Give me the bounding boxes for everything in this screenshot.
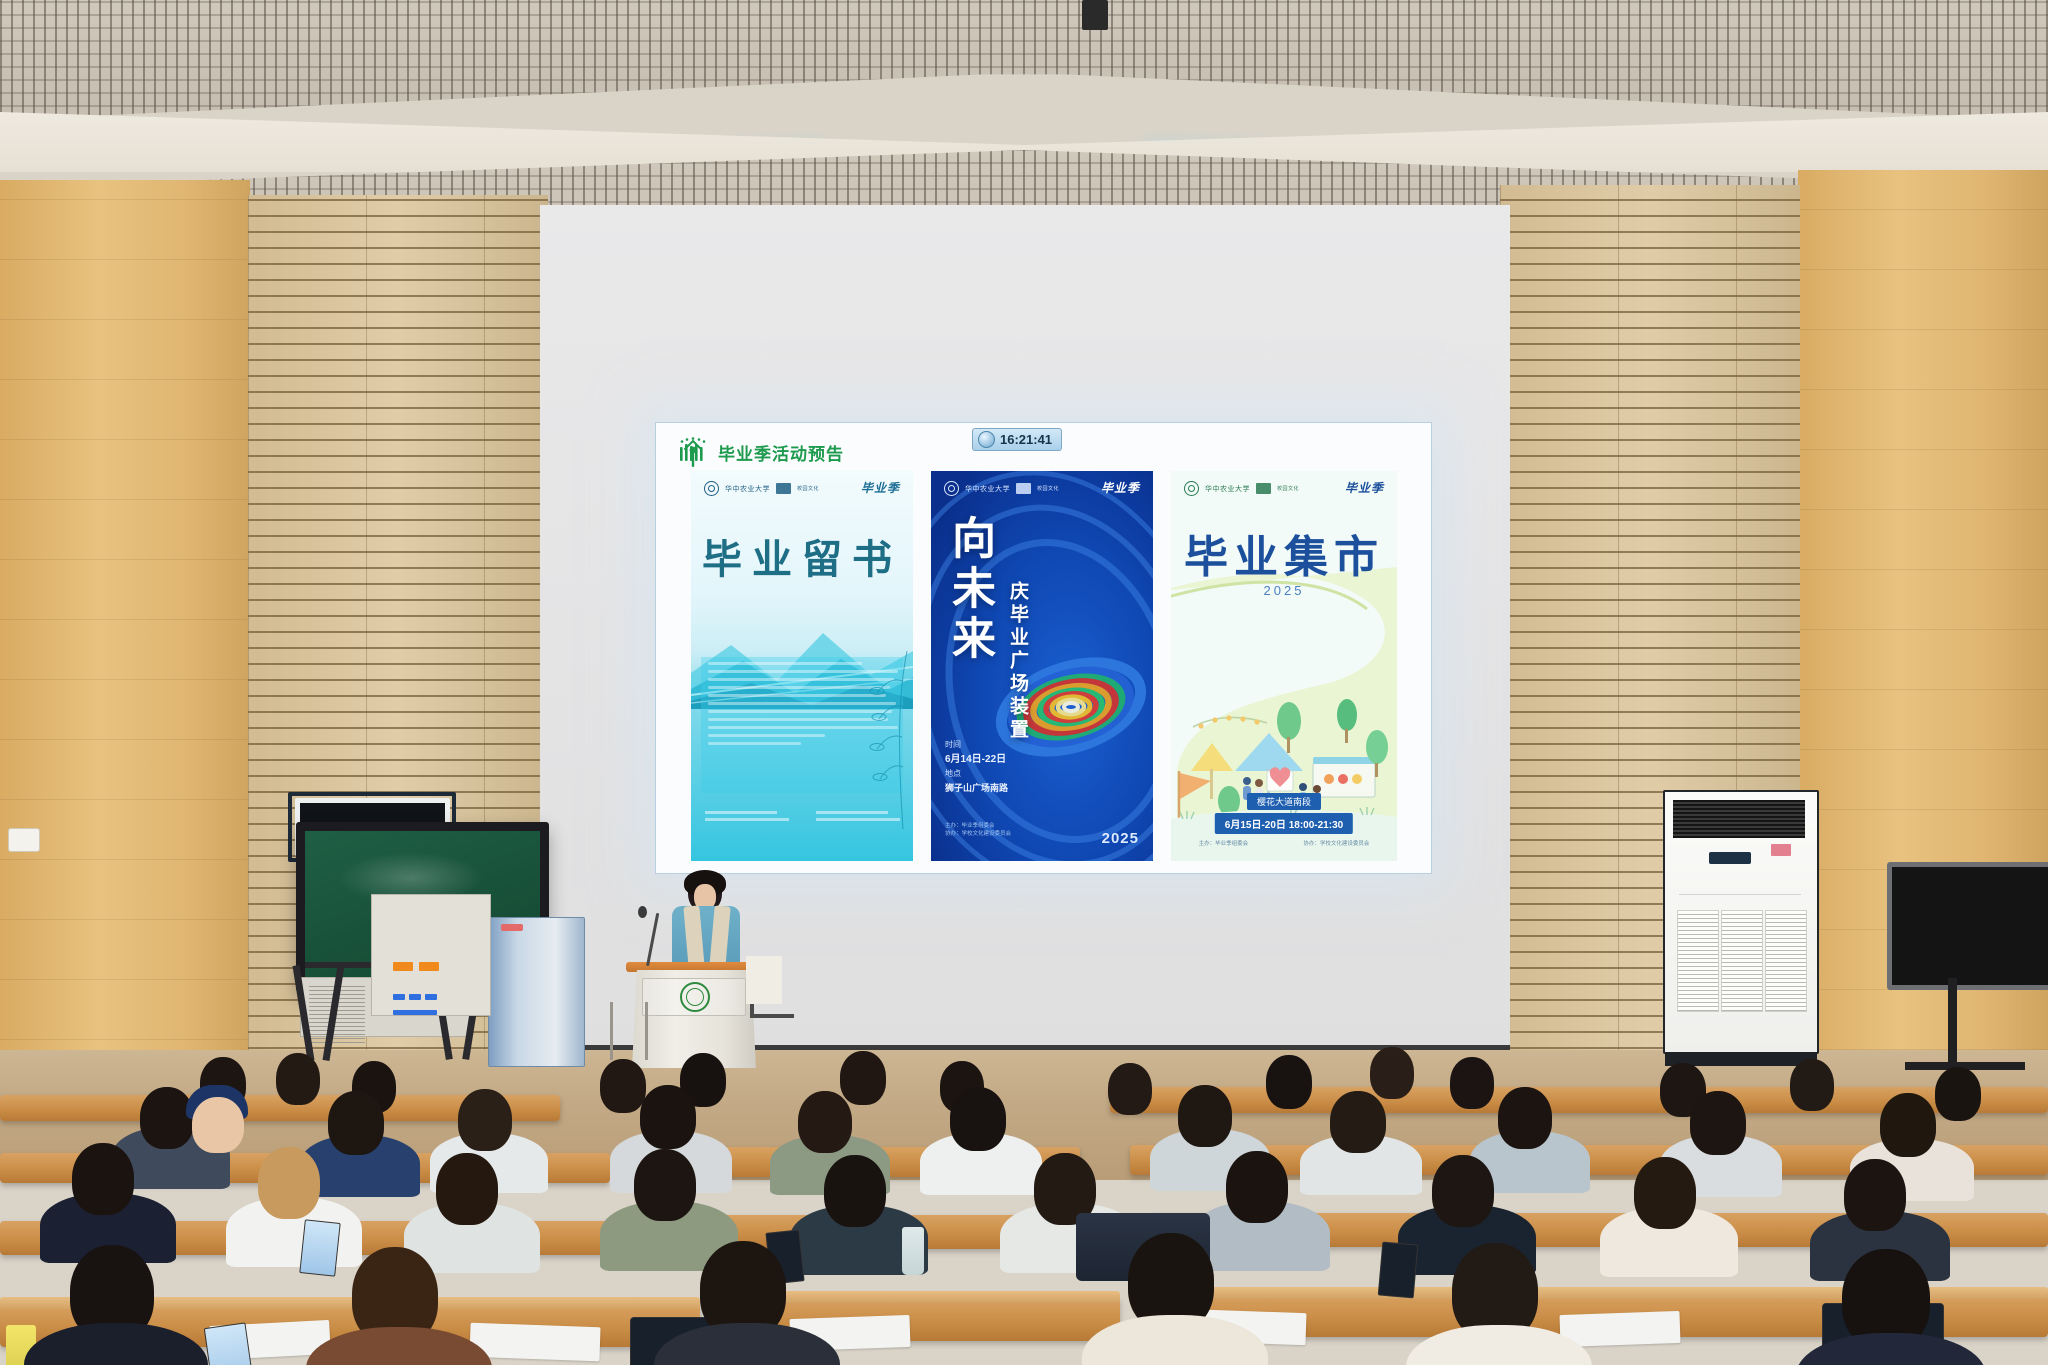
rack-led-blue-3: [425, 994, 437, 1000]
audience-head: [1450, 1057, 1494, 1109]
rack-led-orange-2: [419, 962, 439, 971]
poster-gallery: 华中农业大学 校园文化 毕业季 毕业留书: [691, 471, 1397, 861]
poster2-title: 向未来: [945, 515, 991, 665]
rack-led-orange-1: [393, 962, 413, 971]
poster-graduation-book[interactable]: 华中农业大学 校园文化 毕业季 毕业留书: [691, 471, 913, 861]
audience-head: [824, 1155, 886, 1227]
audience-head: [1108, 1063, 1152, 1115]
audience-head: [1330, 1091, 1386, 1153]
audience-head: [1634, 1157, 1696, 1229]
culture-logo-icon: [776, 483, 791, 494]
audience-head: [798, 1091, 852, 1153]
poster1-univ-name: 华中农业大学: [725, 484, 770, 494]
rack-led-blue-4: [393, 1010, 437, 1015]
ac-louver-3: [1765, 910, 1807, 1012]
poster3-org-line1: 主办：毕业季组委会: [1199, 839, 1249, 847]
audience-head-with-cap: [192, 1097, 244, 1153]
poster2-org-line2: 协办：学校文化建设委员会: [945, 831, 1011, 839]
poster1-footer-right2-bar: [816, 818, 900, 821]
audience-head: [1844, 1159, 1906, 1231]
desk-row-d-mid-top: [740, 1291, 1120, 1303]
wood-wall-right: [1798, 170, 2048, 1170]
audience-head: [1226, 1151, 1288, 1223]
water-bottle-clear[interactable]: [902, 1227, 924, 1275]
lecture-hall-photo: 毕业季活动预告 16:21:41 华中农业大学 校园文化 毕业季 毕业留书: [0, 0, 2048, 1365]
poster2-brand-sub: 校园文化: [1037, 485, 1059, 492]
audience-head: [1935, 1067, 1981, 1121]
floor-standing-air-conditioner[interactable]: [1663, 790, 1819, 1054]
poster2-subtitle: 庆毕业广场装置: [1001, 581, 1027, 742]
poster3-org-line2: 协办：学校文化建设委员会: [1303, 839, 1369, 847]
poster2-place-value: 狮子山广场南路: [945, 781, 1008, 795]
graduation-tree-logo-icon: [676, 435, 710, 469]
ac-brand-badge: [1771, 844, 1791, 856]
audience-head: [140, 1087, 194, 1149]
university-seal-icon: [1184, 481, 1199, 496]
wall-outlet: [8, 828, 40, 852]
university-seal-icon: [704, 481, 719, 496]
poster2-year: 2025: [1102, 830, 1139, 847]
poster3-time-band: 6月15日-20日 18:00-21:30: [1215, 813, 1353, 834]
rack-led-blue-1: [393, 994, 405, 1000]
poster3-season-mark: 毕业季: [1345, 479, 1384, 496]
poster3-title: 毕业集市: [1171, 521, 1397, 585]
poster1-footer: 时间：6月12日-22日 主办单位：毕业季组委会 地点：图书馆三楼互动区 协办单…: [691, 807, 913, 825]
audience-head: [640, 1085, 696, 1149]
ceiling-projector: [1082, 0, 1108, 30]
audience-head: [328, 1091, 384, 1155]
audience-head: [458, 1089, 512, 1151]
poster2-org-line1: 主办：毕业季组委会: [945, 823, 1011, 831]
ac-louver-2: [1721, 910, 1763, 1012]
audience-head: [1432, 1155, 1494, 1227]
audience-head: [1266, 1055, 1312, 1109]
poster2-season-mark: 毕业季: [1101, 479, 1140, 496]
audience-head: [1790, 1059, 1834, 1111]
timestamp-value: 16:21:41: [1000, 432, 1052, 447]
ac-louver-1: [1677, 910, 1719, 1012]
poster1-season-mark: 毕业季: [861, 479, 900, 496]
projection-screen[interactable]: 毕业季活动预告 16:21:41 华中农业大学 校园文化 毕业季 毕业留书: [655, 422, 1432, 874]
audience-head: [258, 1147, 320, 1219]
audience-head: [600, 1059, 646, 1113]
audience-head: [276, 1053, 320, 1105]
ac-display-panel[interactable]: [1709, 852, 1751, 864]
poster1-footer-left-bar: [705, 811, 777, 814]
ceiling-panel-upper: [0, 0, 2048, 120]
poster1-footer-left2: 主办单位：毕业季组委会: [705, 829, 777, 832]
poster3-year: 2025: [1171, 583, 1397, 598]
podium-microphone-head: [638, 906, 647, 918]
poster3-univ-name: 华中农业大学: [1205, 484, 1250, 494]
poster1-footer-left2-bar: [705, 818, 789, 821]
poster1-branch-graphic: [853, 651, 913, 831]
culture-logo-icon: [1016, 483, 1031, 494]
desk-paper-5[interactable]: [1559, 1311, 1680, 1347]
poster2-univ-name: 华中农业大学: [965, 484, 1010, 494]
student-audience: [0, 1035, 2048, 1365]
poster-graduation-market[interactable]: 华中农业大学 校园文化 毕业季 毕业集市 2025 樱花大道南段 6月15日-2…: [1171, 471, 1397, 861]
poster1-body-text2: “赠人玫瑰，手留余香。”我们向全体毕业生发出邀请：请把你走过的青春岁月的正题中外…: [701, 750, 702, 751]
slide-header: 毕业季活动预告: [676, 435, 844, 469]
poster3-organizers: 主办：毕业季组委会 协办：学校文化建设委员会: [1171, 839, 1397, 847]
slide-header-label: 毕业季活动预告: [718, 440, 844, 465]
wood-wall-left: [0, 180, 250, 1160]
audience-head: [1690, 1091, 1746, 1155]
poster1-brand: 华中农业大学 校园文化: [704, 481, 819, 496]
poster1-body-text3: 以书为媒，阅读一本书，发现生活的美好。: [701, 750, 702, 751]
desk-paper-2[interactable]: [469, 1323, 600, 1362]
audience-head: [950, 1087, 1006, 1151]
poster3-brand: 华中农业大学 校园文化: [1184, 481, 1299, 496]
poster3-place-band: 樱花大道南段: [1247, 793, 1321, 810]
clock-icon: [978, 431, 995, 448]
poster2-brand: 华中农业大学 校园文化: [944, 481, 1059, 496]
audience-head: [1880, 1093, 1936, 1157]
poster2-time-value: 6月14日-22日: [945, 752, 1008, 768]
side-table-cloth: [746, 956, 782, 1004]
phone-dark-2[interactable]: [1378, 1242, 1419, 1299]
rack-top-button[interactable]: [501, 924, 523, 931]
poster2-place-label: 地点: [945, 768, 1008, 781]
poster1-body-text: 亲爱的2025届毕业生：你们好！时光荏苒，岁月如歌，大家即将启程，开启人生崭新的…: [701, 750, 702, 751]
university-emblem-icon: [680, 982, 710, 1012]
ac-mid-seam: [1679, 894, 1801, 895]
ac-top-grille: [1673, 800, 1805, 838]
university-seal-icon: [944, 481, 959, 496]
audience-head: [1498, 1087, 1552, 1149]
audience-head: [1178, 1085, 1232, 1147]
poster2-time-label: 时间: [945, 739, 1008, 752]
poster1-brand-sub: 校园文化: [797, 485, 819, 492]
poster3-brand-sub: 校园文化: [1277, 485, 1299, 492]
wall-monitor[interactable]: [1887, 862, 2048, 990]
audience-head: [72, 1143, 134, 1215]
poster-toward-the-future[interactable]: 华中农业大学 校园文化 毕业季 向未来 庆毕业广场装置 时间 6月14日-22日…: [931, 471, 1153, 861]
audience-head: [634, 1149, 696, 1221]
rack-led-blue-2: [409, 994, 421, 1000]
poster1-footer-right-bar: [816, 811, 888, 814]
poster2-info: 时间 6月14日-22日 地点 狮子山广场南路: [945, 739, 1008, 795]
poster1-footer-left: 时间：6月12日-22日: [705, 829, 777, 832]
audience-head: [1370, 1047, 1414, 1099]
phone-screen-on-2[interactable]: [299, 1219, 340, 1276]
audience-head: [436, 1153, 498, 1225]
audience-head: [840, 1051, 886, 1105]
poster2-organizers: 主办：毕业季组委会 协办：学校文化建设委员会: [945, 823, 1011, 839]
poster1-title: 毕业留书: [691, 527, 913, 585]
timestamp-badge[interactable]: 16:21:41: [972, 428, 1062, 451]
culture-logo-icon: [1256, 483, 1271, 494]
